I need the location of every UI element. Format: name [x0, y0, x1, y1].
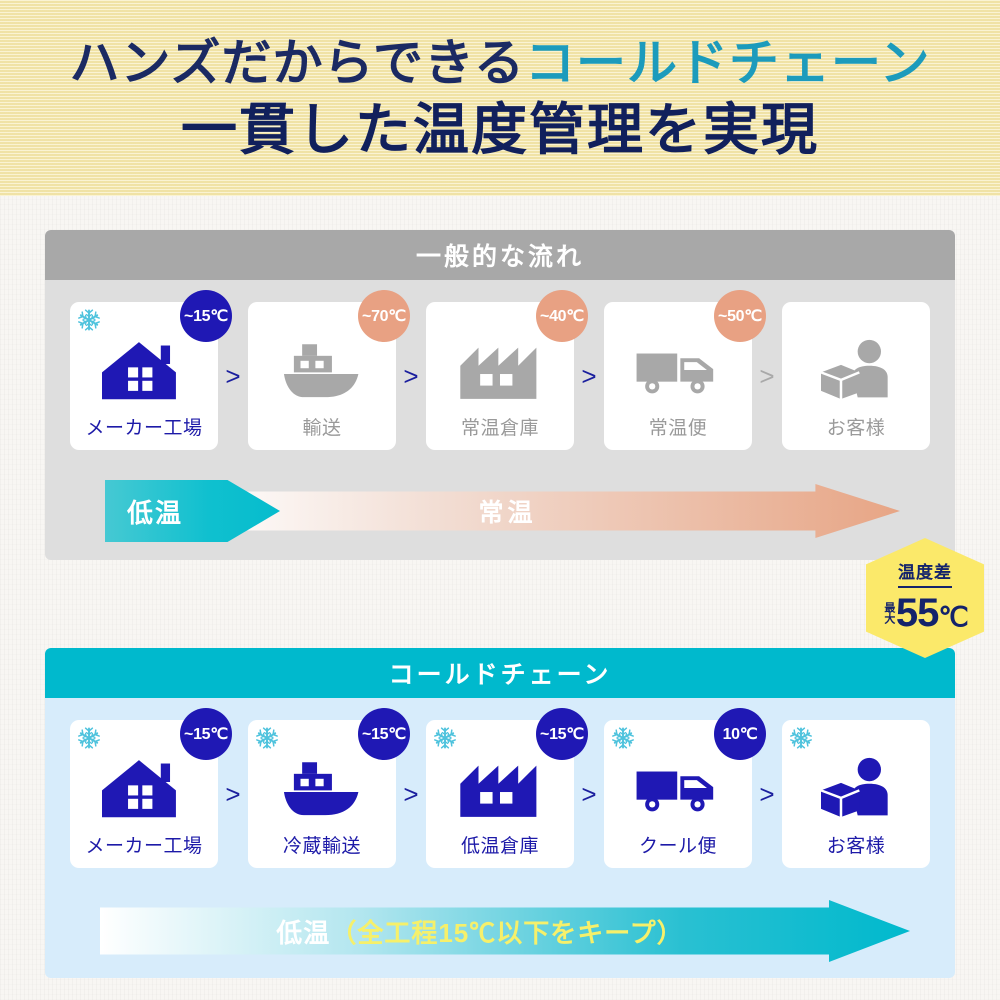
temperature-badge: ~50℃ [714, 290, 766, 342]
temp-difference-unit: ℃ [938, 602, 967, 632]
cold-chain-body: ~15℃ メーカー工場> [45, 698, 955, 978]
flow-card[interactable]: ~70℃ 輸送 [248, 302, 396, 450]
normal-flow-body: ~15℃ メーカー工場>~70℃ 輸送>~40℃ 常温倉庫>~50℃ [45, 280, 955, 560]
temperature-badge: ~15℃ [536, 708, 588, 760]
cold-chain-card-row: ~15℃ メーカー工場> [45, 720, 955, 868]
headline-prefix: ハンズだからできる [70, 33, 526, 92]
snowflake-icon [612, 727, 634, 749]
cold-chain-panel: コールドチェーン [45, 648, 955, 978]
normal-flow-arrow-zone: 常温 低温 [45, 480, 955, 542]
flow-card-label: 冷蔵輸送 [283, 837, 361, 856]
warehouse-icon [457, 756, 543, 822]
flow-card[interactable]: ~15℃ メーカー工場 [70, 720, 218, 868]
normal-flow-panel: 一般的な流れ [45, 230, 955, 560]
snowflake-icon [256, 727, 278, 749]
factory-house-icon [101, 338, 187, 404]
temperature-badge: ~70℃ [358, 290, 410, 342]
headline-line-1: ハンズだからできるコールドチェーン [70, 34, 931, 92]
temperature-badge: ~15℃ [180, 708, 232, 760]
flow-card[interactable]: お客様 [782, 720, 930, 868]
flow-card-label: お客様 [827, 837, 886, 856]
snowflake-icon [78, 309, 100, 331]
cold-chain-arrow-main: 低温 [276, 918, 330, 948]
flow-card-label: 常温便 [649, 419, 708, 438]
customer-icon [813, 338, 899, 404]
flow-card[interactable]: ~15℃ 冷蔵輸送 [248, 720, 396, 868]
flow-card-label: 輸送 [302, 419, 341, 438]
flow-card[interactable]: ~15℃ メーカー工場 [70, 302, 218, 450]
flow-card-label: クール便 [639, 837, 717, 856]
snowflake-icon [434, 727, 456, 749]
truck-icon [635, 756, 721, 822]
headline-line-2: 一貫した温度管理を実現 [181, 98, 819, 162]
flow-card[interactable]: 10℃ クール便 [604, 720, 752, 868]
snowflake-icon [78, 727, 100, 749]
low-temp-label-top: 低温 [127, 493, 183, 530]
flow-card-label: お客様 [827, 419, 886, 438]
temperature-badge: ~15℃ [358, 708, 410, 760]
temperature-badge: ~15℃ [180, 290, 232, 342]
ambient-temp-label: 常温 [478, 493, 536, 529]
headline-banner: ハンズだからできるコールドチェーン 一貫した温度管理を実現 [0, 0, 1000, 196]
warehouse-icon [457, 338, 543, 404]
flow-card-label: メーカー工場 [85, 419, 202, 438]
truck-icon [635, 338, 721, 404]
flow-card[interactable]: お客様 [782, 302, 930, 450]
customer-icon [813, 756, 899, 822]
snowflake-icon [790, 727, 812, 749]
low-temp-arrow-top: 低温 [105, 480, 280, 542]
flow-card-label: 常温倉庫 [461, 419, 539, 438]
ship-icon [279, 756, 365, 822]
flow-card[interactable]: ~15℃ 低温倉庫 [426, 720, 574, 868]
normal-flow-card-row: ~15℃ メーカー工場>~70℃ 輸送>~40℃ 常温倉庫>~50℃ [45, 302, 955, 450]
temperature-badge: 10℃ [714, 708, 766, 760]
temp-difference-title: 温度差 [898, 564, 952, 588]
cold-chain-arrow: 低温（全工程15℃以下をキープ） [100, 900, 910, 962]
cold-chain-arrow-label: 低温（全工程15℃以下をキープ） [276, 913, 683, 950]
flow-card[interactable]: ~50℃ 常温便 [604, 302, 752, 450]
temp-difference-value: 55℃ [896, 594, 968, 632]
cold-chain-title: コールドチェーン [45, 648, 955, 698]
flow-card-label: メーカー工場 [85, 837, 202, 856]
flow-card-label: 低温倉庫 [461, 837, 539, 856]
cold-chain-arrow-note: （全工程15℃以下をキープ） [330, 918, 683, 948]
temp-difference-number: 55 [896, 591, 939, 635]
normal-flow-title: 一般的な流れ [45, 230, 955, 280]
flow-card[interactable]: ~40℃ 常温倉庫 [426, 302, 574, 450]
headline-accent: コールドチェーン [525, 33, 931, 92]
factory-house-icon [101, 756, 187, 822]
temp-difference-value-row: 最大 55℃ [882, 594, 967, 632]
ship-icon [279, 338, 365, 404]
ambient-temp-arrow: 常温 [195, 484, 900, 538]
temp-difference-prefix: 最大 [882, 602, 894, 624]
temperature-badge: ~40℃ [536, 290, 588, 342]
